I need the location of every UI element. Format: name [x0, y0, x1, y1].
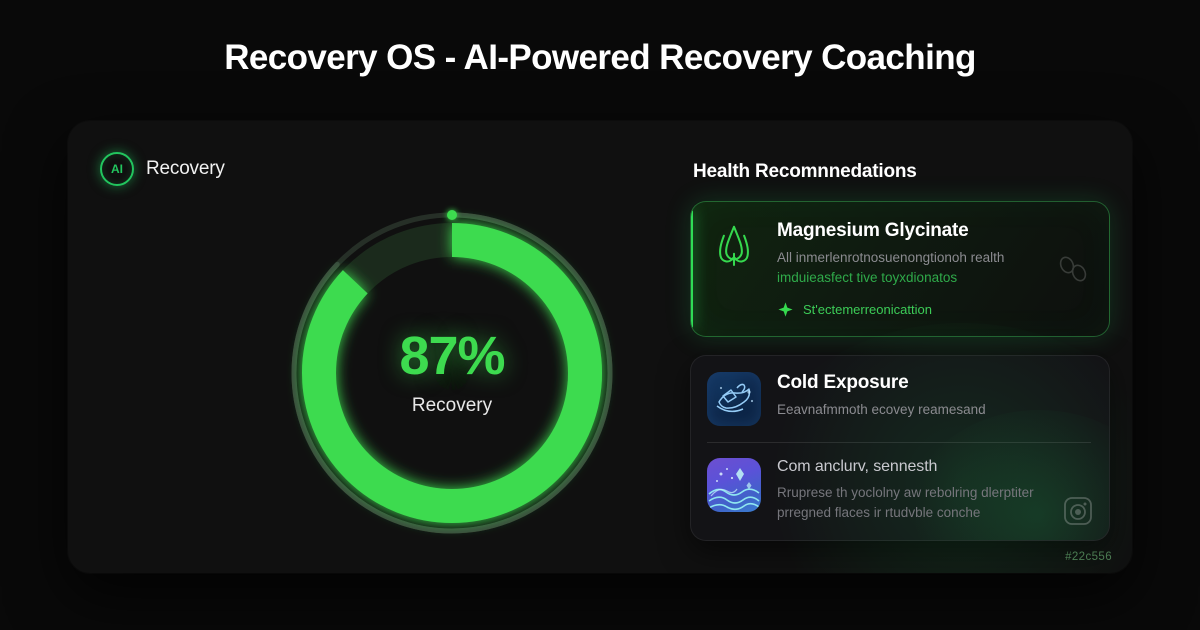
aperture-icon[interactable] — [1063, 496, 1093, 526]
wave-tile-icon — [707, 458, 761, 512]
card-desc-wave-2: prregned flaces ir rtudvble conche — [777, 503, 1091, 523]
recommendation-chip[interactable]: St'ectemerreonicattion — [777, 301, 1091, 318]
recommendations-column: Health Recomnnedations Magnesium Glycina… — [690, 161, 1110, 541]
dashboard-panel: AI Recovery — [68, 121, 1132, 573]
hex-code-label: #22c556 — [1065, 551, 1112, 563]
ai-circle-icon: AI — [100, 152, 134, 186]
ai-header: AI Recovery — [100, 152, 225, 186]
recovery-caption: Recovery — [412, 395, 492, 417]
card-desc-line1: All inmerlenrotnosuenongtionoh realth — [777, 248, 1091, 268]
recommendation-row-wave[interactable]: Com anclurv, sennesth Rruprese th yoclol… — [707, 458, 1091, 522]
recovery-value: 87% — [399, 329, 504, 383]
pills-icon — [1057, 254, 1091, 284]
card-title-cold-exposure: Cold Exposure — [777, 372, 1091, 394]
card-desc-cold-exposure: Eeavnafmmoth ecovey reamesand — [777, 400, 1091, 420]
page-title: Recovery OS - AI-Powered Recovery Coachi… — [0, 38, 1200, 78]
screenshot-stage: Recovery OS - AI-Powered Recovery Coachi… — [0, 0, 1200, 630]
card-desc-line2: imduieasfect tive toyxdionatos — [777, 268, 1091, 288]
card-title-magnesium: Magnesium Glycinate — [777, 220, 1091, 242]
card-divider — [707, 442, 1091, 443]
sparkle-icon — [777, 301, 794, 318]
recommendations-heading: Health Recomnnedations — [693, 161, 1110, 183]
recovery-ring-widget: 87% Recovery — [152, 183, 752, 563]
leaf-flame-icon — [707, 220, 761, 274]
ai-header-label: Recovery — [146, 158, 225, 180]
chip-label: St'ectemerreonicattion — [803, 302, 932, 317]
recommendation-card-magnesium[interactable]: Magnesium Glycinate All inmerlenrotnosue… — [690, 201, 1110, 337]
recommendation-card-group[interactable]: Cold Exposure Eeavnafmmoth ecovey reames… — [690, 355, 1110, 541]
recommendation-row-cold-exposure[interactable]: Cold Exposure Eeavnafmmoth ecovey reames… — [707, 372, 1091, 426]
recovery-ring-center: 87% Recovery — [282, 203, 622, 543]
card-title-wave: Com anclurv, sennesth — [777, 458, 1091, 476]
ice-tile-icon — [707, 372, 761, 426]
card-desc-wave-1: Rruprese th yoclolny aw rebolring dlerpt… — [777, 483, 1091, 503]
ai-badge-text: AI — [111, 162, 123, 176]
